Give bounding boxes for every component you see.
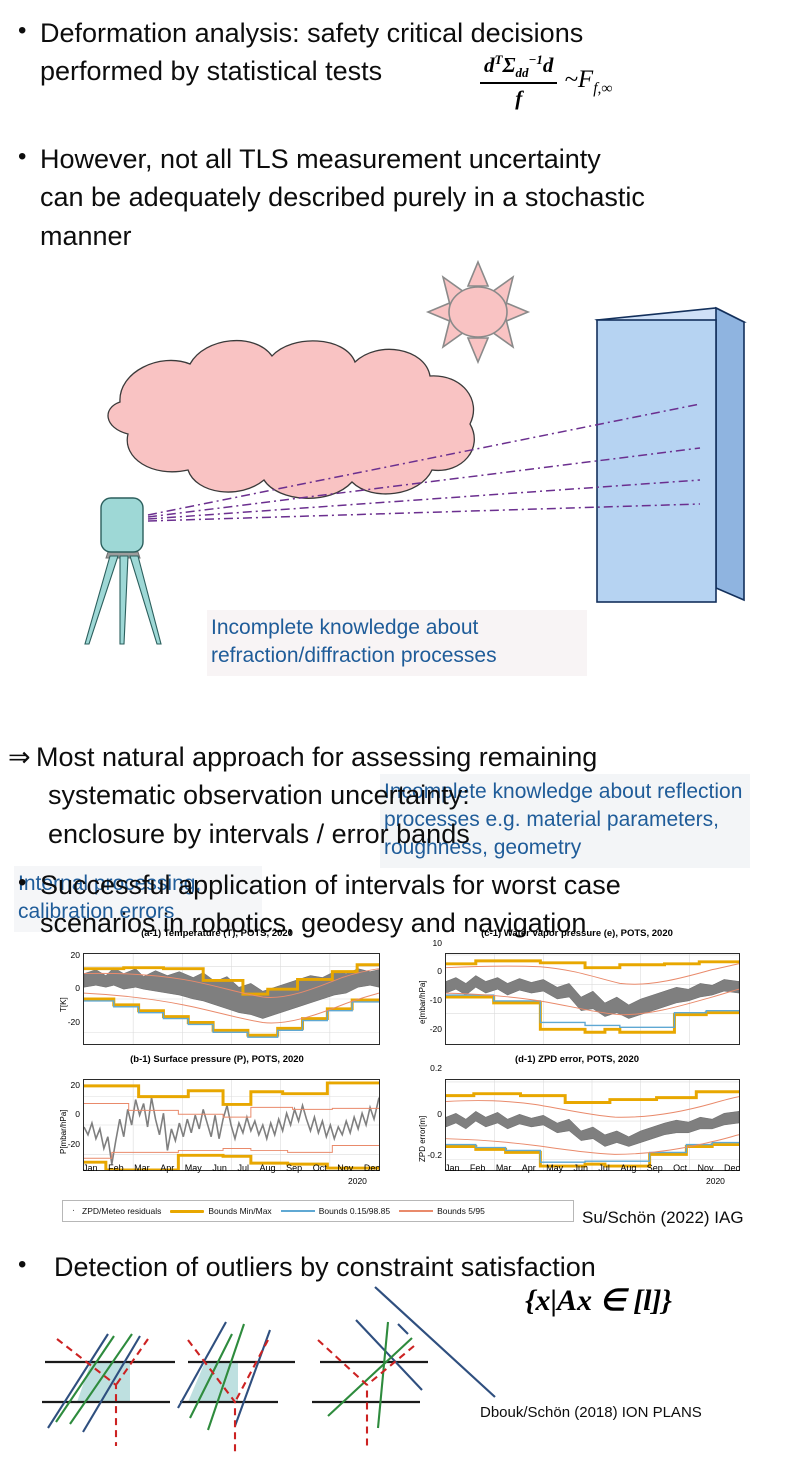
chart-xticks-left: Jan Feb Mar Apr May Jun Jul Aug Sep Oct … xyxy=(83,1163,380,1173)
formula-F-sub: f,∞ xyxy=(593,80,612,97)
xtick: Mar xyxy=(496,1163,512,1173)
plot-svg-c1 xyxy=(446,954,739,1044)
bullet-text: Deformation analysis: safety critical de… xyxy=(40,14,718,91)
xtick: Mar xyxy=(134,1163,150,1173)
meteo-charts-figure: (a-1) Temperature (T), POTS, 2020 T[K] 2… xyxy=(52,928,752,1240)
bullet-line: enclosure by intervals / error bands xyxy=(36,815,470,853)
constraint-set-formula: {x|Ax ∈ [l]} xyxy=(525,1283,672,1318)
xtick: May xyxy=(546,1163,563,1173)
legend-label: Bounds Min/Max xyxy=(208,1206,271,1216)
bullet-deformation-analysis: • Deformation analysis: safety critical … xyxy=(18,14,718,91)
chart-title-b1: (b-1) Surface pressure (P), POTS, 2020 xyxy=(52,1054,382,1065)
legend-label: ZPD/Meteo residuals xyxy=(82,1206,161,1216)
feasible-set-panel-1 xyxy=(42,1334,175,1446)
sun-icon xyxy=(428,262,528,362)
bullet-marker: • xyxy=(18,14,40,48)
bullet-line: systematic observation uncertainty: xyxy=(36,776,470,814)
chi-square-test-formula: dTΣdd−1d f ~Ff,∞ xyxy=(480,52,612,111)
chart-ytick: -20 xyxy=(56,1139,80,1149)
chart-ytick: 0 xyxy=(60,1109,80,1119)
chart-panel-b1: (b-1) Surface pressure (P), POTS, 2020 P… xyxy=(52,1054,382,1194)
chart-xticks-right: Jan Feb Mar Apr May Jun Jul Aug Sep Oct … xyxy=(445,1163,740,1173)
xtick: Apr xyxy=(160,1163,174,1173)
tls-measurement-scene: Incomplete knowledge about refraction/di… xyxy=(0,252,800,704)
chart-panel-a1: (a-1) Temperature (T), POTS, 2020 T[K] 2… xyxy=(52,928,382,1046)
xtick: May xyxy=(185,1163,202,1173)
bullet-line: can be adequately described purely in a … xyxy=(40,182,645,212)
xtick: Dec xyxy=(364,1163,380,1173)
formula-relation: ~ xyxy=(564,66,578,93)
chart-ytick: 10 xyxy=(420,938,442,948)
xtick: Jun xyxy=(212,1163,227,1173)
legend-item-minmax: Bounds Min/Max xyxy=(170,1206,271,1216)
bullet-line: Deformation analysis: safety critical de… xyxy=(40,18,583,48)
chart-panel-c1: (c-1) Water vapor pressure (e), POTS, 20… xyxy=(412,928,742,1046)
chart-ytick: -20 xyxy=(414,1024,442,1034)
formula-numerator: dTΣdd−1d xyxy=(480,52,557,82)
bullet-outlier-detection: • Detection of outliers by constraint sa… xyxy=(18,1248,778,1286)
chart-year-label: 2020 xyxy=(706,1176,725,1186)
chart-year-label: 2020 xyxy=(348,1176,367,1186)
bullet-text: Detection of outliers by constraint sati… xyxy=(40,1248,778,1286)
chart-plot-d1 xyxy=(445,1079,740,1171)
constraint-set-expression: {x|Ax ∈ [l]} xyxy=(525,1284,672,1317)
constraint-satisfaction-figure xyxy=(30,1290,450,1455)
bullet-marker: • xyxy=(18,1248,40,1282)
xtick: Feb xyxy=(470,1163,486,1173)
feasible-set-panel-3 xyxy=(312,1320,428,1450)
legend-item-5-95: Bounds 5/95 xyxy=(399,1206,485,1216)
plot-svg-b1 xyxy=(84,1080,379,1170)
chart-grid: (a-1) Temperature (T), POTS, 2020 T[K] 2… xyxy=(52,928,752,1196)
legend-item-residuals: · ZPD/Meteo residuals xyxy=(69,1206,161,1216)
legend-swatch-595 xyxy=(399,1210,433,1212)
formula-fraction: dTΣdd−1d f xyxy=(480,52,557,111)
chart-ytick: -0.2 xyxy=(412,1150,442,1160)
bullet-text: Most natural approach for assessing rema… xyxy=(36,738,788,853)
legend-dot-marker: · xyxy=(69,1206,78,1216)
xtick: Aug xyxy=(260,1163,276,1173)
chart-ytick: -10 xyxy=(414,995,442,1005)
xtick: Sep xyxy=(286,1163,302,1173)
chart-plot-b1 xyxy=(83,1079,380,1171)
bullet-marker: • xyxy=(18,866,40,900)
xtick: Sep xyxy=(647,1163,663,1173)
legend-swatch-015 xyxy=(281,1210,315,1212)
xtick: Jun xyxy=(574,1163,589,1173)
legend-item-015-9885: Bounds 0.15/98.85 xyxy=(281,1206,390,1216)
bullet-line: Successful application of intervals for … xyxy=(40,870,621,900)
xtick: Nov xyxy=(698,1163,714,1173)
bullet-line: Most natural approach for assessing rema… xyxy=(36,742,597,772)
chart-title-a1: (a-1) Temperature (T), POTS, 2020 xyxy=(52,928,382,939)
chart-ylabel-a1: T[K] xyxy=(59,997,68,1012)
plot-svg-a1 xyxy=(84,954,379,1044)
feasible-set-panel-2 xyxy=(178,1322,295,1452)
bullet-marker: • xyxy=(18,140,40,174)
chart-ytick: 0 xyxy=(420,966,442,976)
chart-panel-d1: (d-1) ZPD error, POTS, 2020 ZPD error[m]… xyxy=(412,1054,742,1194)
legend-label: Bounds 0.15/98.85 xyxy=(319,1206,390,1216)
laser-scanner-icon xyxy=(85,498,161,644)
bullet-interval-approach: ⇒ Most natural approach for assessing re… xyxy=(8,738,788,853)
legend-label: Bounds 5/95 xyxy=(437,1206,485,1216)
xtick: Jan xyxy=(83,1163,98,1173)
xtick: Apr xyxy=(522,1163,536,1173)
formula-d2: d xyxy=(543,53,554,77)
formula-F: F xyxy=(578,66,593,93)
xtick: Oct xyxy=(673,1163,687,1173)
citation-su-schoen: Su/Schön (2022) IAG xyxy=(582,1208,744,1228)
formula-inverse: −1 xyxy=(528,52,542,67)
bullet-line: performed by statistical tests xyxy=(40,56,382,86)
slide-root: • Deformation analysis: safety critical … xyxy=(0,0,800,1459)
formula-sigma: Σ xyxy=(502,53,515,77)
chart-plot-c1 xyxy=(445,953,740,1045)
xtick: Nov xyxy=(337,1163,353,1173)
chart-ytick: 0.2 xyxy=(416,1063,442,1073)
wall-icon xyxy=(597,308,744,602)
geofig-svg xyxy=(30,1290,450,1455)
xtick: Jul xyxy=(237,1163,249,1173)
chart-title-c1: (c-1) Water vapor pressure (e), POTS, 20… xyxy=(412,928,742,939)
formula-sub-dd: dd xyxy=(515,65,528,80)
chart-legend: · ZPD/Meteo residuals Bounds Min/Max Bou… xyxy=(62,1200,574,1222)
xtick: Feb xyxy=(108,1163,124,1173)
xtick: Oct xyxy=(313,1163,327,1173)
bullet-tls-uncertainty: • However, not all TLS measurement uncer… xyxy=(18,140,788,255)
xtick: Jul xyxy=(598,1163,610,1173)
cloud-icon xyxy=(108,341,474,499)
chart-title-d1: (d-1) ZPD error, POTS, 2020 xyxy=(412,1054,742,1065)
xtick: Jan xyxy=(445,1163,460,1173)
legend-swatch-minmax xyxy=(170,1210,204,1213)
plot-svg-d1 xyxy=(446,1080,739,1170)
bullet-line: However, not all TLS measurement uncerta… xyxy=(40,144,601,174)
bullet-text: However, not all TLS measurement uncerta… xyxy=(40,140,788,255)
chart-plot-a1 xyxy=(83,953,380,1045)
chart-ytick: 0 xyxy=(60,983,80,993)
chart-ytick: 0 xyxy=(420,1109,442,1119)
citation-dbouk-schoen: Dbouk/Schön (2018) ION PLANS xyxy=(480,1404,702,1421)
chart-ytick: 20 xyxy=(60,1080,80,1090)
formula-d1: d xyxy=(484,53,495,77)
chart-ytick: 20 xyxy=(60,950,80,960)
implies-arrow-icon: ⇒ xyxy=(8,738,36,776)
formula-distribution: ~Ff,∞ xyxy=(564,66,612,98)
formula-denominator: f xyxy=(515,84,522,111)
chart-ytick: -20 xyxy=(56,1017,80,1027)
label-refraction-knowledge: Incomplete knowledge about refraction/di… xyxy=(207,610,587,676)
bullet-line: manner xyxy=(40,221,132,251)
xtick: Aug xyxy=(620,1163,636,1173)
xtick: Dec xyxy=(724,1163,740,1173)
